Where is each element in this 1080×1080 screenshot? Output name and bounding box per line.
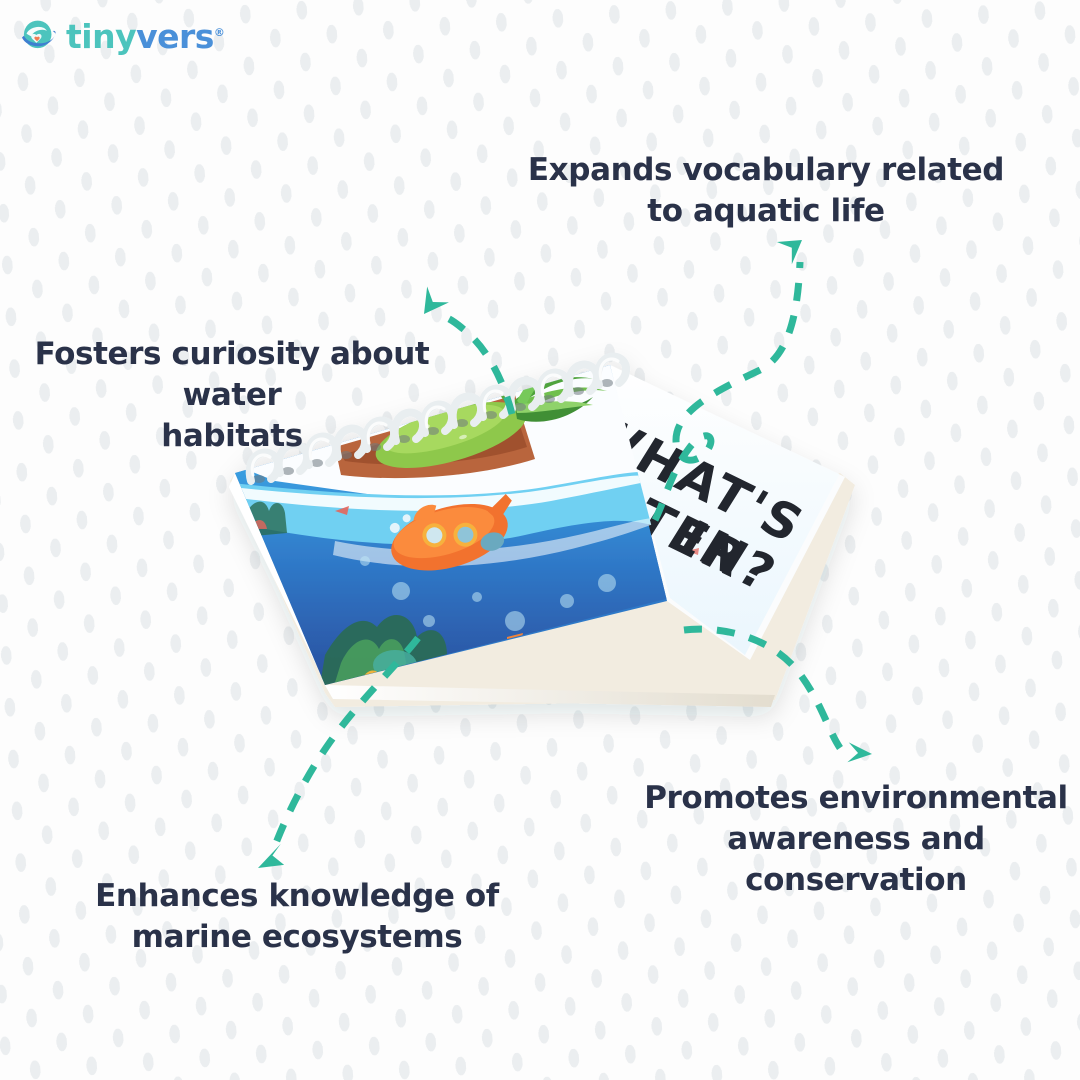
caption-promotes-environmental: Promotes environmental awareness and con… <box>632 778 1080 902</box>
caption-enhances-knowledge: Enhances knowledge of marine ecosystems <box>72 876 522 958</box>
logo-registered-mark: ® <box>214 26 225 39</box>
tinyvers-logo[interactable]: tinyvers® <box>18 14 224 56</box>
poster-canvas: tinyvers® Expands vocabulary related to … <box>0 0 1080 1080</box>
logo-word-tiny: tiny <box>66 17 136 56</box>
caption-expands-vocabulary: Expands vocabulary related to aquatic li… <box>516 150 1016 232</box>
tinyvers-circle-heart-icon <box>18 14 60 56</box>
logo-word-vers: vers <box>136 17 214 56</box>
logo-wordmark: tinyvers® <box>66 20 224 53</box>
caption-fosters-curiosity: Fosters curiosity about water habitats <box>0 334 472 458</box>
